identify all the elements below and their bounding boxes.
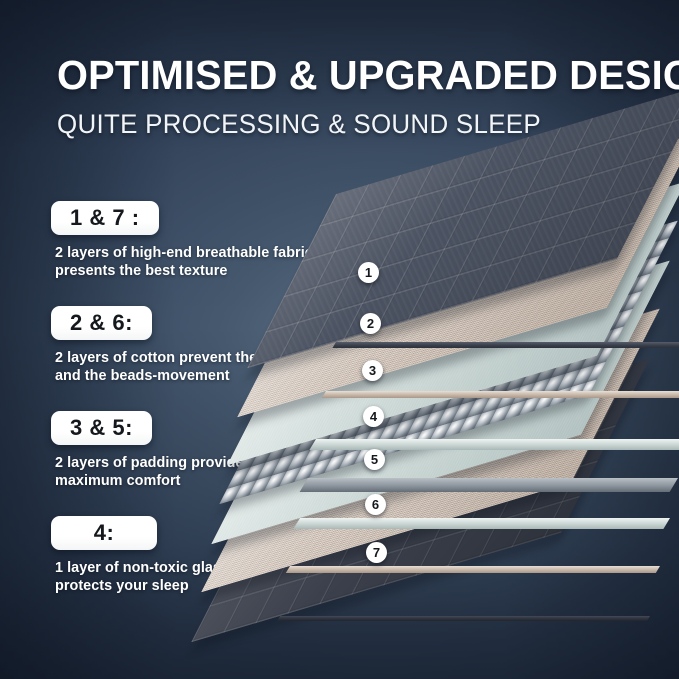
layer-badge-7: 7 <box>366 542 387 563</box>
layer-badge-1: 1 <box>358 262 379 283</box>
layer-badge-2: 2 <box>360 313 381 334</box>
layer-badge-6: 6 <box>365 494 386 515</box>
page-subtitle: QUITE PROCESSING & SOUND SLEEP <box>57 109 614 139</box>
infographic-page: OPTIMISED & UPGRADED DESIGN QUITE PROCES… <box>0 0 679 679</box>
layer-3-edge <box>309 439 679 450</box>
layer-7-edge <box>277 616 650 621</box>
fact-chip-2-and-6: 2 & 6: <box>51 306 152 340</box>
layer-5-edge <box>293 518 670 529</box>
layer-2-edge <box>322 391 679 398</box>
layer-badge-3: 3 <box>362 360 383 381</box>
fact-description-1-and-7: 2 layers of high-end breathable fabric p… <box>55 244 321 280</box>
layer-1-edge <box>332 342 679 348</box>
layer-badge-5: 5 <box>364 449 385 470</box>
page-title: OPTIMISED & UPGRADED DESIGN <box>57 52 620 98</box>
layer-6-edge <box>286 566 660 573</box>
layer-1-sheet <box>336 194 679 344</box>
layer-4-edge <box>300 478 678 492</box>
fact-item-1-and-7: 1 & 7 : 2 layers of high-end breathable … <box>51 201 321 280</box>
layer-badge-4: 4 <box>363 406 384 427</box>
fact-chip-1-and-7: 1 & 7 : <box>51 201 159 235</box>
fact-chip-3-and-5: 3 & 5: <box>51 411 152 445</box>
layer-diagram: 1 2 3 4 5 6 7 <box>300 168 679 618</box>
fact-chip-4: 4: <box>51 516 157 550</box>
header: OPTIMISED & UPGRADED DESIGN QUITE PROCES… <box>57 52 637 139</box>
